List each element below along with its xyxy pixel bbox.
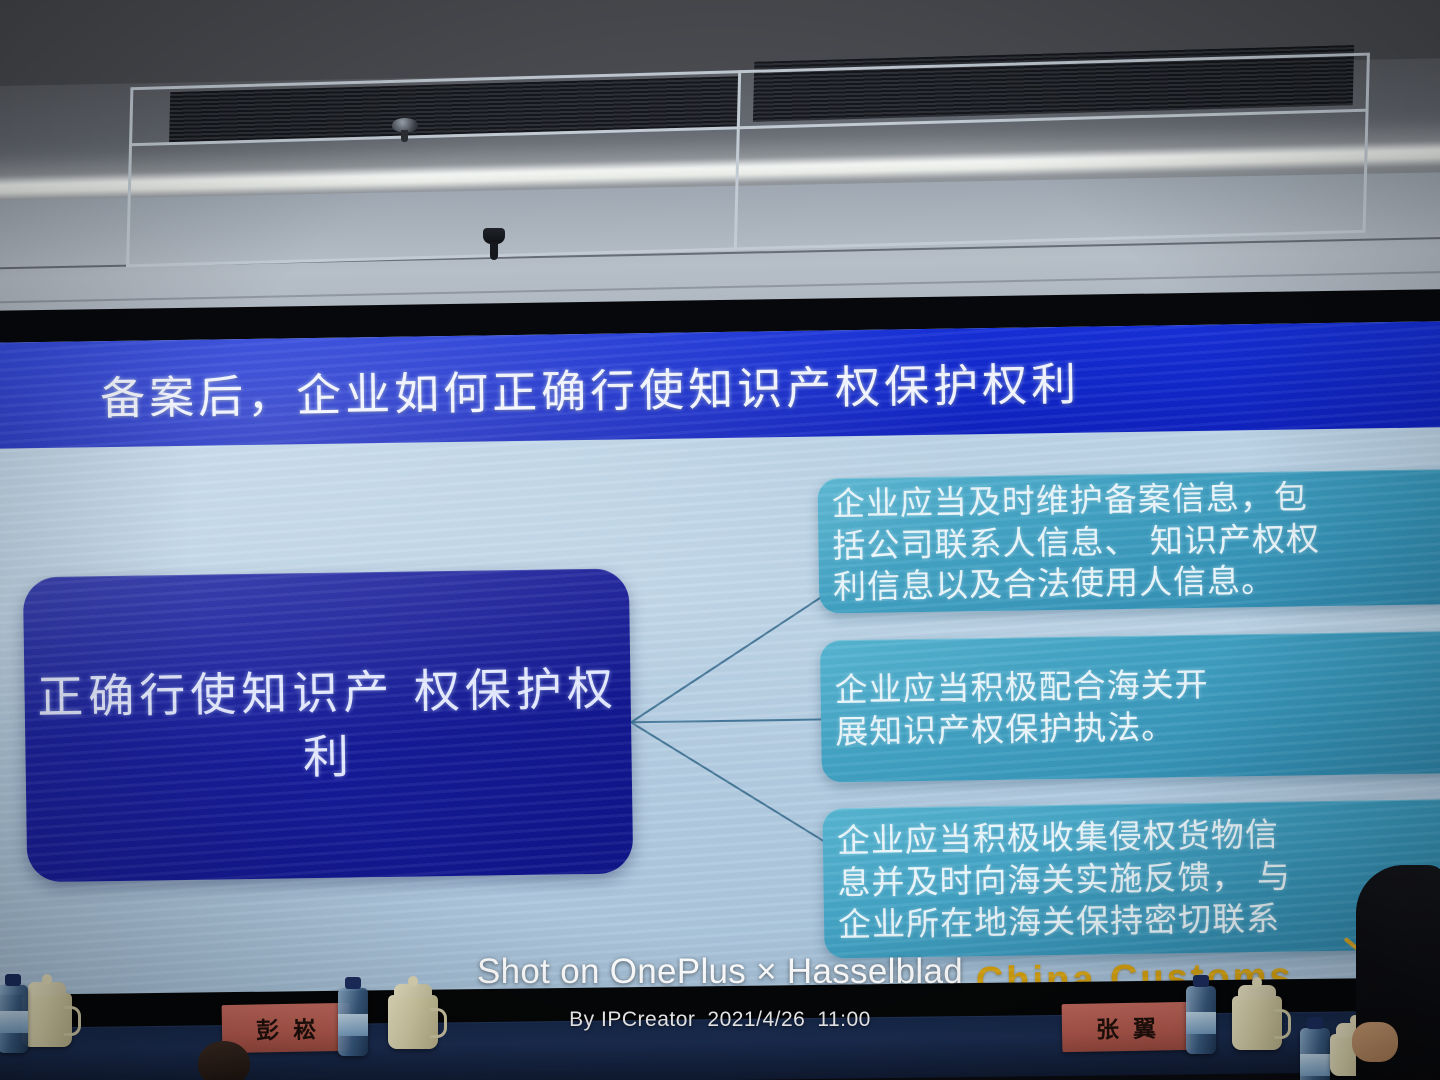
photo-scene: 备案后，企业如何正确行使知识产权保护权利 正确行使知识产 权保护权利 企业应当及… <box>0 0 1440 1080</box>
ceiling <box>0 0 1440 340</box>
slide-canvas: 备案后，企业如何正确行使知识产权保护权利 正确行使知识产 权保护权利 企业应当及… <box>0 321 1440 1003</box>
watermark-date: 2021/4/26 <box>707 1008 805 1031</box>
connector-line-1 <box>631 592 829 723</box>
branch-box-2[interactable]: 企业应当积极配合海关开 展知识产权保护执法。 <box>820 631 1440 783</box>
watermark-time: 11:00 <box>817 1008 871 1031</box>
ceiling-grid-frame <box>126 53 1370 268</box>
watermark-brand: Shot on OnePlus × Hasselblad <box>0 952 1440 992</box>
ceiling-grid-panel <box>126 53 1370 268</box>
slide-title: 备案后，企业如何正确行使知识产权保护权利 <box>100 347 1081 427</box>
watermark-author: By IPCreator <box>569 1008 695 1031</box>
center-node-box[interactable]: 正确行使知识产 权保护权利 <box>23 568 633 882</box>
sprinkler-icon <box>392 118 418 132</box>
projection-screen: 备案后，企业如何正确行使知识产权保护权利 正确行使知识产 权保护权利 企业应当及… <box>0 289 1440 1011</box>
water-bottle-4 <box>1300 1028 1330 1080</box>
attendee-head-1 <box>198 1041 250 1080</box>
connector-line-2 <box>631 718 827 723</box>
slide-title-bar: 备案后，企业如何正确行使知识产权保护权利 <box>0 321 1440 449</box>
branch-label-1: 企业应当及时维护备案信息，包 括公司联系人信息、 知识产权权 利信息以及合法使用… <box>832 476 1321 609</box>
connector-line-3 <box>631 721 833 847</box>
center-node-label: 正确行使知识产 权保护权利 <box>24 657 632 793</box>
branch-label-2: 企业应当积极配合海关开 展知识产权保护执法。 <box>834 664 1209 753</box>
branch-label-3: 企业应当积极收集侵权货物信 息并及时向海关实施反馈， 与 企业所在地海关保持密切… <box>837 814 1292 946</box>
branch-box-1[interactable]: 企业应当及时维护备案信息，包 括公司联系人信息、 知识产权权 利信息以及合法使用… <box>817 469 1440 614</box>
watermark-credit: By IPCreator2021/4/2611:00 <box>0 1008 1440 1032</box>
ceiling-speaker-icon <box>483 228 505 244</box>
